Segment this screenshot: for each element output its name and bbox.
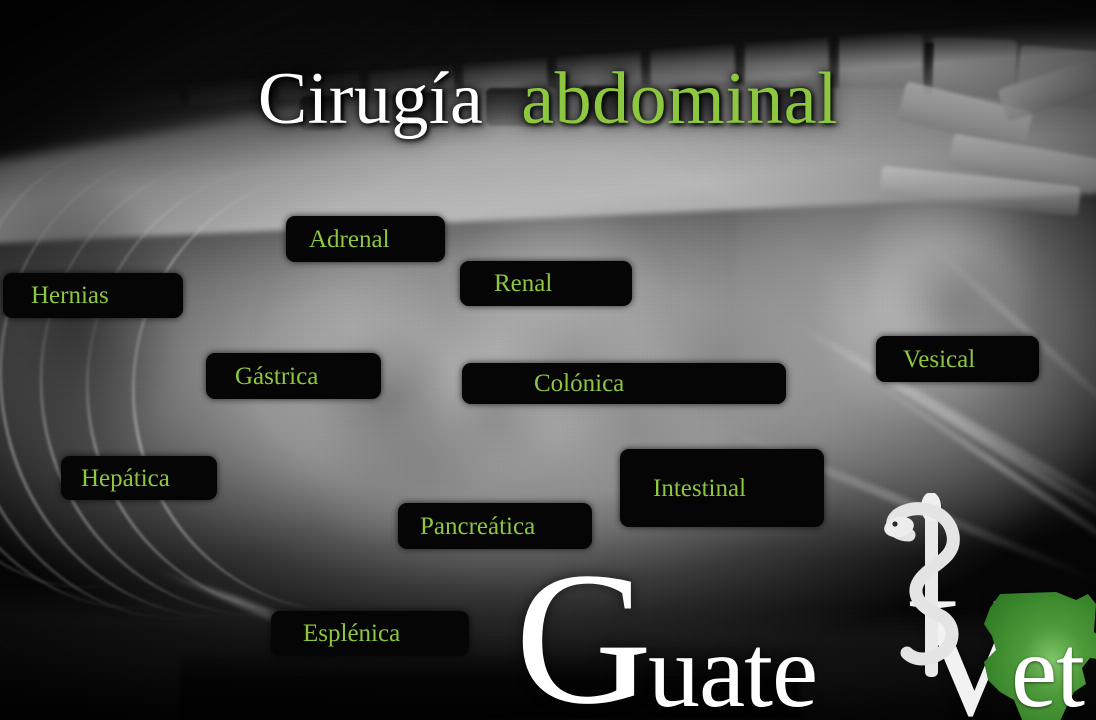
label-hepatica-text: Hepática [81,466,170,491]
label-gastrica[interactable]: Gástrica [206,353,381,399]
label-renal[interactable]: Renal [460,261,632,306]
guatevet-logo[interactable]: G uate V et [515,540,1095,720]
label-adrenal-text: Adrenal [309,227,390,252]
logo-text-et: et [1011,620,1084,720]
rod-of-asclepius-icon [873,493,993,683]
label-adrenal[interactable]: Adrenal [286,216,445,262]
label-colonica[interactable]: Colónica [462,363,786,404]
label-esplenica-text: Esplénica [303,621,400,646]
label-renal-text: Renal [494,271,552,296]
label-intestinal[interactable]: Intestinal [620,449,824,527]
label-vesical-text: Vesical [903,347,975,372]
label-hernias[interactable]: Hernias [3,273,183,318]
label-esplenica[interactable]: Esplénica [271,611,469,656]
label-intestinal-text: Intestinal [653,476,746,501]
label-hernias-text: Hernias [31,283,109,308]
label-vesical[interactable]: Vesical [876,336,1039,382]
slide-canvas: Cirugía abdominal Adrenal Renal Hernias … [0,0,1096,720]
label-gastrica-text: Gástrica [235,364,318,389]
logo-text-uate: uate [648,620,817,720]
label-hepatica[interactable]: Hepática [61,456,217,500]
logo-letter-g: G [515,544,652,720]
label-colonica-text: Colónica [534,371,624,396]
